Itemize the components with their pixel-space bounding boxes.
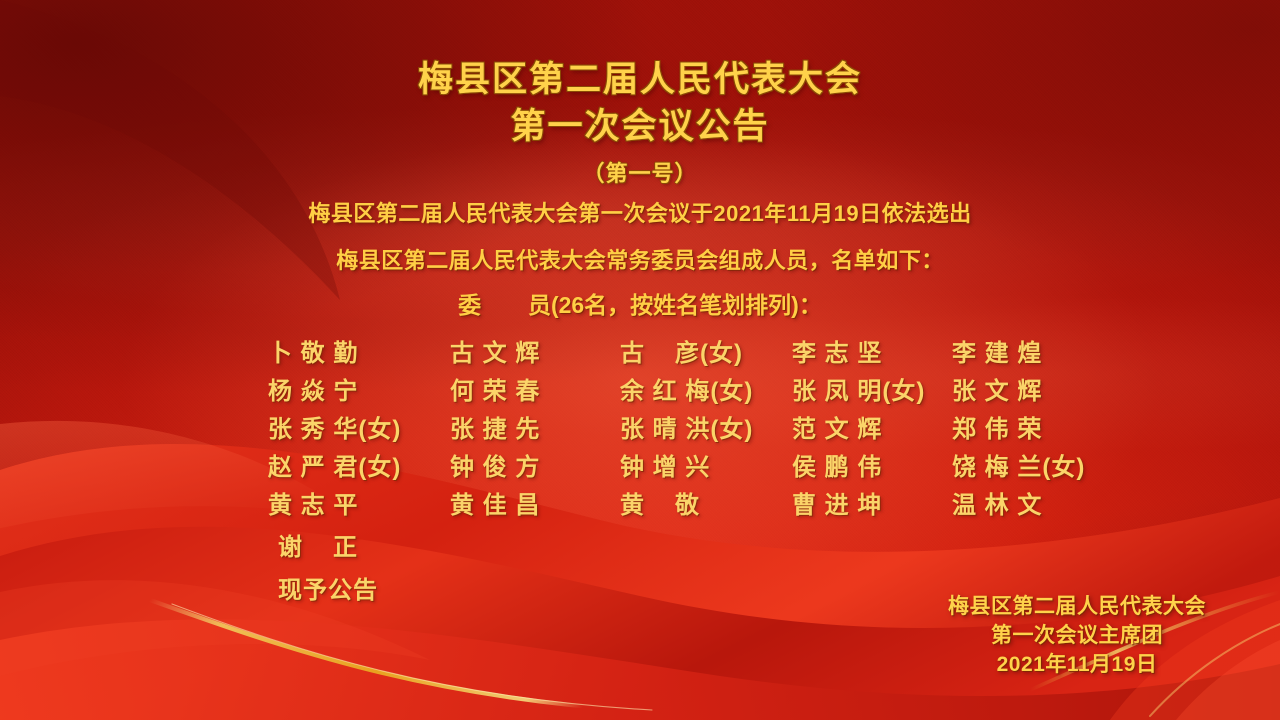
paragraph-election-statement: 梅县区第二届人民代表大会第一次会议于2021年11月19日依法选出	[0, 196, 1280, 228]
member-name-cell: 黄 佳 昌	[450, 485, 620, 520]
member-name-cell: 饶 梅 兰(女)	[952, 447, 1088, 482]
member-name-text: 敬	[675, 492, 700, 519]
member-name-text: 杨 焱 宁	[268, 378, 358, 405]
member-name-cell: 黄敬	[620, 485, 792, 520]
member-name-text: 黄 志 平	[268, 492, 358, 519]
member-name-text: 张 晴 洪	[620, 416, 710, 443]
member-name-cell: 张 捷 先	[450, 409, 620, 444]
section-heading-label-left: 委	[458, 292, 481, 318]
page-title-line-2: 第一次会议公告	[0, 103, 1280, 150]
member-name-text: 黄 佳 昌	[450, 492, 540, 519]
member-name-text: 郑 伟 荣	[952, 416, 1042, 443]
member-gender-note: (女)	[710, 378, 753, 405]
member-gender-note: (女)	[710, 416, 753, 443]
member-name-row: 杨 焱 宁何 荣 春余 红 梅(女)张 凤 明(女)张 文 辉	[268, 369, 1088, 407]
member-name-text: 余 红 梅	[620, 378, 710, 405]
member-name-text: 李 志 坚	[792, 340, 882, 367]
member-name-cell: 张 秀 华(女)	[268, 409, 450, 444]
member-name-row: 卜 敬 勤古 文 辉古彦(女)李 志 坚李 建 煌	[268, 331, 1088, 369]
member-name-cell: 赵 严 君(女)	[268, 447, 450, 482]
member-name-cell: 杨 焱 宁	[268, 371, 450, 406]
member-name-text: 彦	[675, 340, 700, 367]
signature-organization: 梅县区第二届人民代表大会	[948, 592, 1206, 621]
announcement-poster: 梅县区第二届人民代表大会 第一次会议公告 （第一号） 梅县区第二届人民代表大会第…	[0, 0, 1280, 720]
member-name-cell: 张 文 辉	[952, 371, 1088, 406]
member-name-cell: 古 文 辉	[450, 333, 620, 368]
member-name-text: 古	[620, 340, 645, 367]
member-name-cell: 温 林 文	[952, 485, 1088, 520]
member-name-row: 黄 志 平黄 佳 昌黄敬曹 进 坤温 林 文	[268, 483, 1088, 521]
member-name-cell: 郑 伟 荣	[952, 409, 1088, 444]
member-gender-note: (女)	[882, 378, 925, 405]
member-name-text: 张 秀 华	[268, 416, 358, 443]
member-name-cell: 何 荣 春	[450, 371, 620, 406]
page-title-line-1: 梅县区第二届人民代表大会	[0, 56, 1280, 103]
member-surname: 谢	[278, 534, 303, 561]
member-name-row: 张 秀 华(女)张 捷 先张 晴 洪(女)范 文 辉郑 伟 荣	[268, 407, 1088, 445]
member-gender-note: (女)	[700, 340, 743, 367]
member-name-cell: 张 凤 明(女)	[792, 371, 952, 406]
section-heading-label-right: 员(26名，按姓名笔划排列)：	[528, 292, 822, 318]
member-name-grid: 卜 敬 勤古 文 辉古彦(女)李 志 坚李 建 煌杨 焱 宁何 荣 春余 红 梅…	[268, 331, 1088, 521]
member-name-text: 钟 增 兴	[620, 454, 710, 481]
member-name-cell: 黄 志 平	[268, 485, 450, 520]
member-name-text: 黄	[620, 492, 645, 519]
member-name-text: 侯 鹏 伟	[792, 454, 882, 481]
section-heading-members: 委 员(26名，按姓名笔划排列)：	[0, 286, 1280, 320]
signature-date: 2021年11月19日	[948, 650, 1206, 679]
member-gender-note: (女)	[1042, 454, 1085, 481]
member-name-text: 范 文 辉	[792, 416, 882, 443]
member-name-cell: 古彦(女)	[620, 333, 792, 368]
member-name-text: 曹 进 坤	[792, 492, 882, 519]
member-name-text: 何 荣 春	[450, 378, 540, 405]
member-name-cell: 张 晴 洪(女)	[620, 409, 792, 444]
member-name-text: 赵 严 君	[268, 454, 358, 481]
announcement-number: （第一号）	[0, 156, 1280, 188]
member-name-text: 钟 俊 方	[450, 454, 540, 481]
member-name-cell: 李 志 坚	[792, 333, 952, 368]
member-name-text: 张 文 辉	[952, 378, 1042, 405]
member-name-cell: 卜 敬 勤	[268, 333, 450, 368]
member-name-text: 古 文 辉	[450, 340, 540, 367]
member-gender-note: (女)	[358, 416, 401, 443]
member-name-text: 张 凤 明	[792, 378, 882, 405]
member-given-name: 正	[333, 534, 358, 561]
member-name-cell: 钟 俊 方	[450, 447, 620, 482]
member-name-text: 张 捷 先	[450, 416, 540, 443]
member-name-text: 李 建 煌	[952, 340, 1042, 367]
closing-statement: 现予公告	[278, 570, 378, 605]
title-block: 梅县区第二届人民代表大会 第一次会议公告 （第一号）	[0, 56, 1280, 188]
member-name-cell: 范 文 辉	[792, 409, 952, 444]
member-name-row: 赵 严 君(女)钟 俊 方钟 增 兴侯 鹏 伟饶 梅 兰(女)	[268, 445, 1088, 483]
member-name-cell: 李 建 煌	[952, 333, 1088, 368]
member-name-cell: 钟 增 兴	[620, 447, 792, 482]
member-name-cell: 余 红 梅(女)	[620, 371, 792, 406]
member-name-text: 饶 梅 兰	[952, 454, 1042, 481]
signature-presidium: 第一次会议主席团	[948, 621, 1206, 650]
signature-block: 梅县区第二届人民代表大会 第一次会议主席团 2021年11月19日	[948, 592, 1206, 679]
paragraph-roster-intro: 梅县区第二届人民代表大会常务委员会组成人员，名单如下：	[0, 243, 1280, 275]
member-name-text: 温 林 文	[952, 492, 1042, 519]
member-name-cell: 侯 鹏 伟	[792, 447, 952, 482]
member-name-text: 卜 敬 勤	[268, 340, 358, 367]
member-name-last: 谢正	[278, 527, 358, 562]
member-gender-note: (女)	[358, 454, 401, 481]
member-name-cell: 曹 进 坤	[792, 485, 952, 520]
